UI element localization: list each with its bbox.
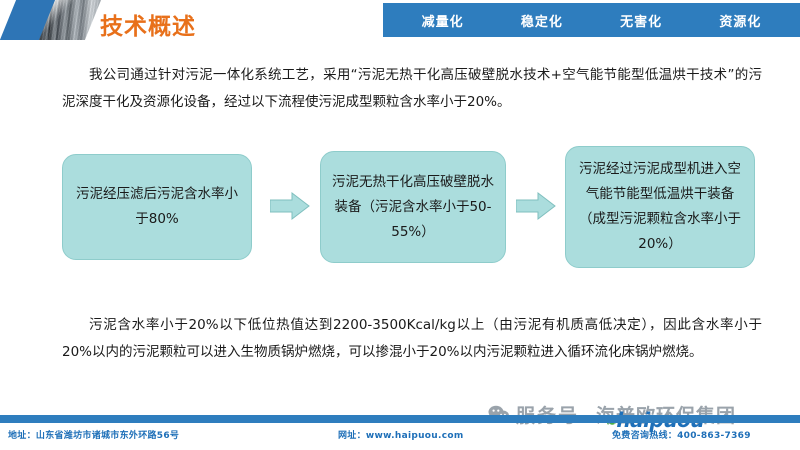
flow-step-2: 污泥无热干化高压破壁脱水装备（污泥含水率小于50-55%） xyxy=(320,151,506,263)
intro-paragraph: 我公司通过针对污泥一体化系统工艺，采用“污泥无热干化高压破壁脱水技术+空气能节能… xyxy=(62,62,762,116)
footer-website[interactable]: 网址：www.haipuou.com xyxy=(338,428,464,441)
flow-step-3: 污泥经过污泥成型机进入空气能节能型低温烘干装备（成型污泥颗粒含水率小于20%） xyxy=(565,146,755,268)
nav-item-reduction[interactable]: 减量化 xyxy=(422,11,464,30)
nav-item-harmless[interactable]: 无害化 xyxy=(620,11,662,30)
flow-arrow-2-icon xyxy=(516,191,556,221)
flow-step-1: 污泥经压滤后污泥含水率小于80% xyxy=(62,154,252,260)
page-title: 技术概述 xyxy=(100,7,196,41)
nav-item-stabilization[interactable]: 稳定化 xyxy=(521,11,563,30)
footer-address: 地址：山东省潍坊市诸城市东外环路56号 xyxy=(8,428,179,441)
page-header: 技术概述 减量化 稳定化 无害化 资源化 xyxy=(0,0,800,46)
flow-step-1-label: 污泥经压滤后污泥含水率小于80% xyxy=(73,182,241,232)
flow-step-2-label: 污泥无热干化高压破壁脱水装备（污泥含水率小于50-55%） xyxy=(331,170,495,245)
logo-graphic xyxy=(0,0,95,40)
nav-item-resourcing[interactable]: 资源化 xyxy=(719,11,761,30)
header-nav-bar: 减量化 稳定化 无害化 资源化 xyxy=(383,3,800,37)
brand-strip: 服务号 海普欧环保集团 ❧haipuou xyxy=(480,399,800,429)
footer-divider-bar xyxy=(0,415,800,423)
flow-step-3-label: 污泥经过污泥成型机进入空气能节能型低温烘干装备（成型污泥颗粒含水率小于20%） xyxy=(576,157,744,257)
flow-arrow-1-icon xyxy=(270,191,310,221)
process-flow-diagram: 污泥经压滤后污泥含水率小于80% 污泥无热干化高压破壁脱水装备（污泥含水率小于5… xyxy=(0,146,800,276)
footer-hotline: 免费咨询热线：400-863-7369 xyxy=(612,428,751,441)
conclusion-paragraph: 污泥含水率小于20%以下低位热值达到2200-3500Kcal/kg以上（由污泥… xyxy=(62,312,762,366)
